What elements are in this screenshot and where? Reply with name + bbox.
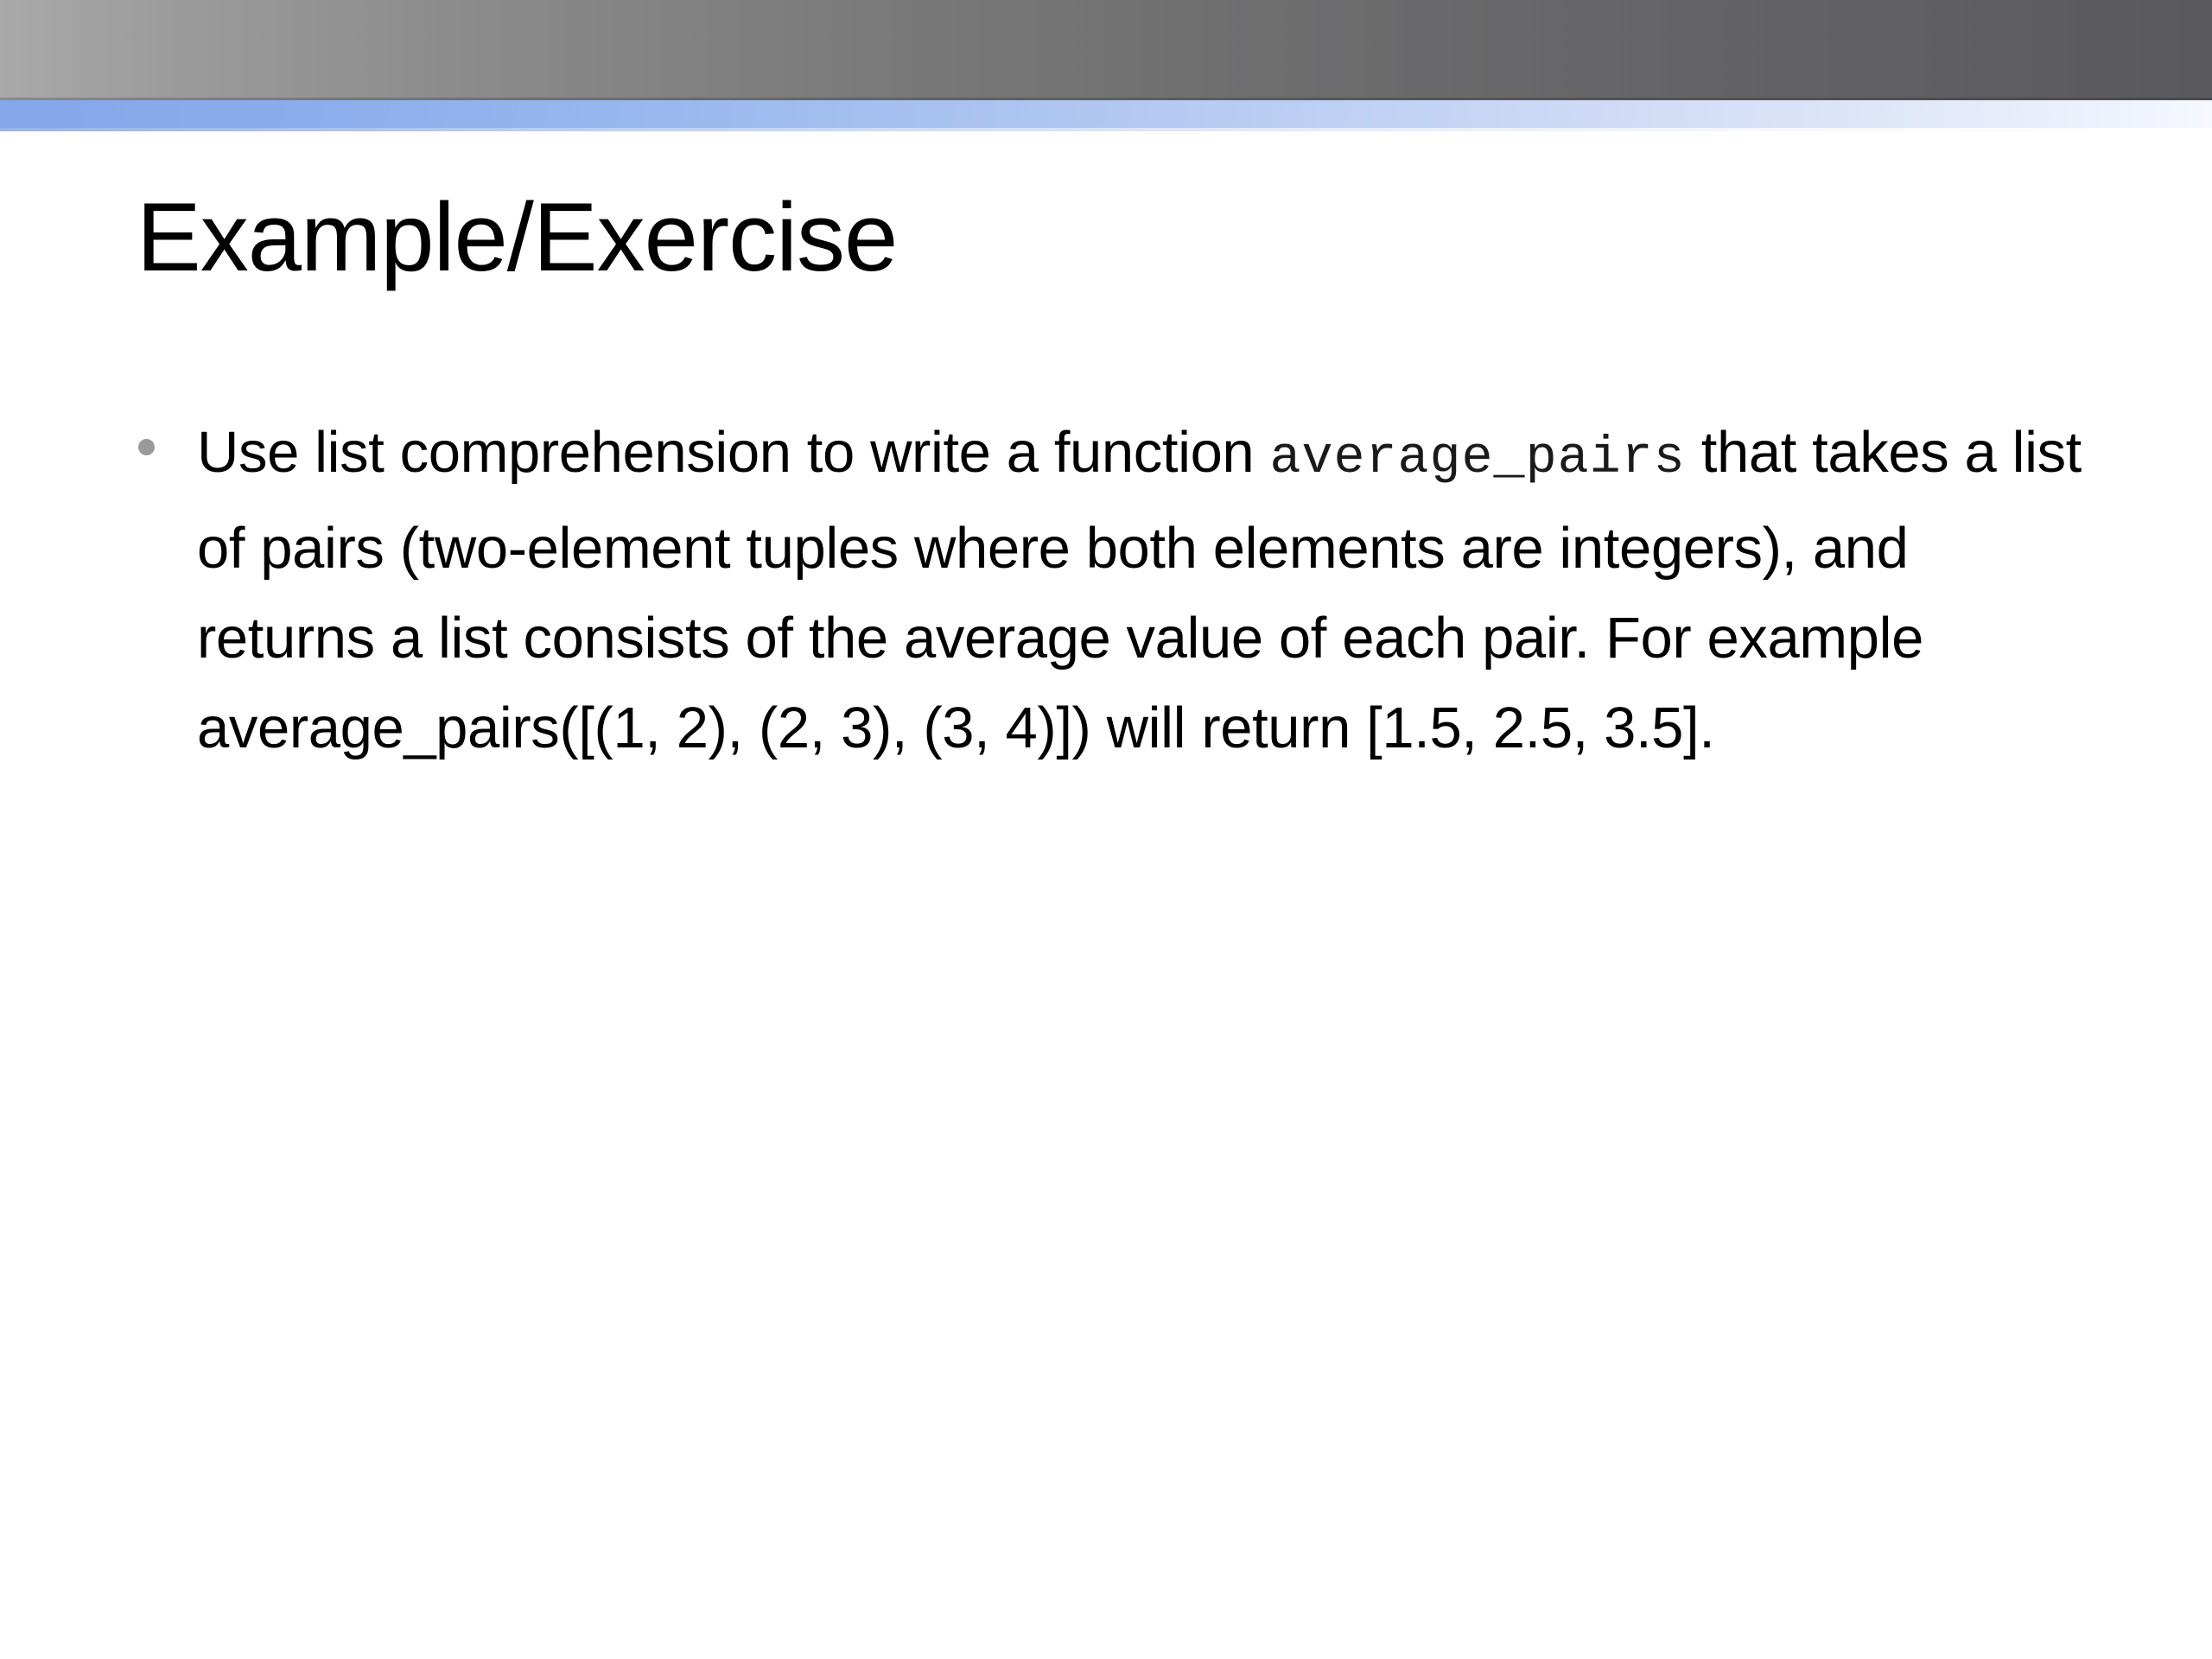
page-title: Example/Exercise: [137, 183, 2037, 291]
bullet-segment-intro: Use list comprehension to write a functi…: [197, 420, 1270, 485]
list-item-text: Use list comprehension to write a functi…: [197, 408, 2088, 773]
bullet-dot-icon: [138, 439, 155, 455]
list-item: Use list comprehension to write a functi…: [135, 408, 2088, 773]
slide: Example/Exercise Use list comprehension …: [0, 0, 2212, 1659]
header-blue-band: [0, 100, 2212, 131]
bullet-segment-code: average_pairs: [1270, 429, 1686, 488]
bullet-list: Use list comprehension to write a functi…: [135, 408, 2088, 773]
header-gray-band: [0, 0, 2212, 100]
